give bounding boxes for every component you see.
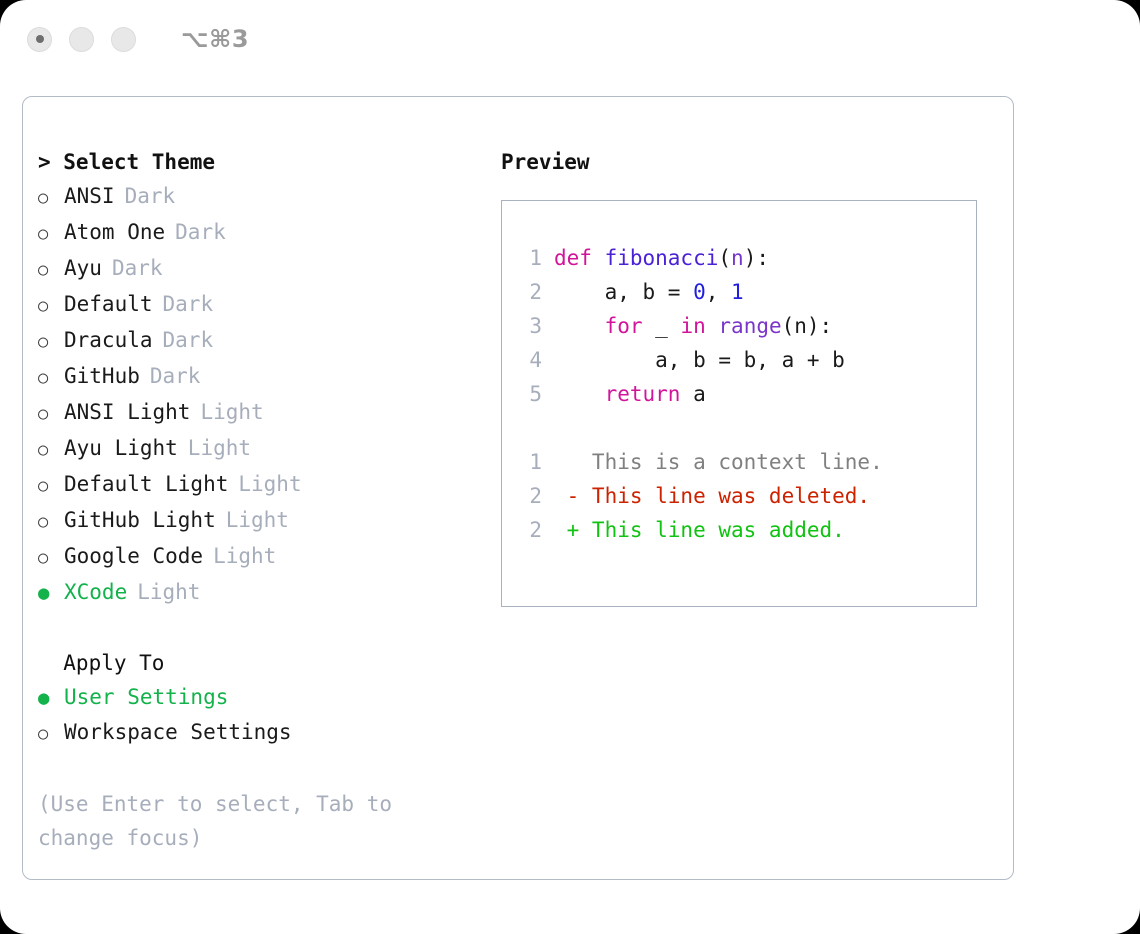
line-number: 5 (514, 377, 542, 411)
token-plain (554, 314, 605, 338)
window-controls (27, 27, 136, 52)
option-variant-label: Dark (125, 179, 176, 213)
token-kw: in (680, 314, 705, 338)
option-label: Google Code (64, 539, 203, 573)
token-add: + This line was added. (554, 518, 845, 542)
line-number: 4 (514, 343, 542, 377)
line-content: a, b = b, a + b (554, 343, 845, 377)
code-block: 1def fibonacci(n):2 a, b = 0, 13 for _ i… (514, 241, 976, 411)
radio-unselected-icon: ○ (38, 433, 64, 467)
token-plain (706, 314, 719, 338)
line-number: 1 (514, 241, 542, 275)
token-var: n (731, 246, 744, 270)
theme-option-0[interactable]: ○ANSIDark (38, 179, 488, 215)
option-label: GitHub (64, 359, 140, 393)
line-content: - This line was deleted. (554, 479, 870, 513)
token-plain (554, 382, 605, 406)
code-blank-line (514, 411, 976, 445)
theme-selection-column: > Select Theme ○ANSIDark○Atom OneDark○Ay… (38, 145, 488, 855)
line-number: 2 (514, 479, 542, 513)
apply-to-option-list: ●User Settings○Workspace Settings (38, 680, 488, 751)
option-label: ANSI Light (64, 395, 190, 429)
code-line: 5 return a (514, 377, 976, 411)
theme-option-8[interactable]: ○Default LightLight (38, 467, 488, 503)
diff-block: 1 This is a context line.2 - This line w… (514, 445, 976, 547)
token-plain: ): (744, 246, 769, 270)
theme-option-2[interactable]: ○AyuDark (38, 251, 488, 287)
theme-option-7[interactable]: ○Ayu LightLight (38, 431, 488, 467)
option-variant-label: Light (238, 467, 301, 501)
option-variant-label: Dark (150, 359, 201, 393)
keyboard-shortcut-label: ⌥⌘3 (181, 25, 249, 53)
preview-column: Preview 1def fibonacci(n):2 a, b = 0, 13… (501, 145, 1001, 607)
traffic-light-3[interactable] (111, 27, 136, 52)
code-preview-box: 1def fibonacci(n):2 a, b = 0, 13 for _ i… (501, 200, 977, 607)
radio-selected-icon: ● (38, 576, 64, 610)
line-content: + This line was added. (554, 513, 845, 547)
radio-unselected-icon: ○ (38, 361, 64, 395)
token-var: range (718, 314, 781, 338)
option-variant-label: Light (200, 395, 263, 429)
theme-option-list: ○ANSIDark○Atom OneDark○AyuDark○DefaultDa… (38, 179, 488, 610)
token-plain: _ (643, 314, 681, 338)
line-content: a, b = 0, 1 (554, 275, 744, 309)
token-fn: fibonacci (605, 246, 719, 270)
option-variant-label: Light (137, 575, 200, 609)
option-label: Default Light (64, 467, 228, 501)
theme-option-10[interactable]: ○Google CodeLight (38, 539, 488, 575)
apply-to-option-0[interactable]: ●User Settings (38, 680, 488, 715)
theme-option-4[interactable]: ○DraculaDark (38, 323, 488, 359)
option-label: GitHub Light (64, 503, 216, 537)
option-variant-label: Dark (112, 251, 163, 285)
radio-unselected-icon: ○ (38, 325, 64, 359)
token-kw: for (605, 314, 643, 338)
token-del: - This line was deleted. (554, 484, 870, 508)
token-num: 1 (731, 280, 744, 304)
option-label: Default (64, 287, 153, 321)
option-label: Atom One (64, 215, 165, 249)
preview-title: Preview (501, 145, 1001, 179)
theme-option-3[interactable]: ○DefaultDark (38, 287, 488, 323)
option-label: Dracula (64, 323, 153, 357)
code-line: 3 for _ in range(n): (514, 309, 976, 343)
traffic-light-2[interactable] (69, 27, 94, 52)
option-variant-label: Dark (175, 215, 226, 249)
theme-option-9[interactable]: ○GitHub LightLight (38, 503, 488, 539)
option-variant-label: Dark (163, 287, 214, 321)
line-content: def fibonacci(n): (554, 241, 769, 275)
radio-selected-icon: ● (38, 681, 64, 715)
radio-unselected-icon: ○ (38, 217, 64, 251)
radio-unselected-icon: ○ (38, 397, 64, 431)
traffic-light-1[interactable] (27, 27, 52, 52)
option-variant-label: Light (188, 431, 251, 465)
select-theme-header: > Select Theme (38, 145, 488, 179)
token-kw: return (605, 382, 681, 406)
line-number: 2 (514, 513, 542, 547)
theme-option-1[interactable]: ○Atom OneDark (38, 215, 488, 251)
line-content: for _ in range(n): (554, 309, 832, 343)
line-number: 2 (514, 275, 542, 309)
code-line: 1def fibonacci(n): (514, 241, 976, 275)
radio-unselected-icon: ○ (38, 541, 64, 575)
radio-unselected-icon: ○ (38, 289, 64, 323)
traffic-light-dot-icon (36, 35, 44, 43)
radio-unselected-icon: ○ (38, 253, 64, 287)
option-label: XCode (64, 575, 127, 609)
token-plain: ( (718, 246, 731, 270)
option-variant-label: Light (226, 503, 289, 537)
theme-option-5[interactable]: ○GitHubDark (38, 359, 488, 395)
line-content: return a (554, 377, 706, 411)
option-label: User Settings (64, 680, 228, 714)
token-plain: , (706, 280, 731, 304)
main-panel: > Select Theme ○ANSIDark○Atom OneDark○Ay… (22, 96, 1014, 880)
keyboard-hint-text: (Use Enter to select, Tab to change focu… (38, 787, 438, 855)
line-number: 1 (514, 445, 542, 479)
token-ctx: This is a context line. (554, 450, 883, 474)
token-plain: a, b = b, a + b (554, 348, 845, 372)
diff-line: 1 This is a context line. (514, 445, 976, 479)
diff-line: 2 + This line was added. (514, 513, 976, 547)
token-num: 0 (693, 280, 706, 304)
section-spacer (38, 610, 488, 646)
line-content: This is a context line. (554, 445, 883, 479)
radio-unselected-icon: ○ (38, 505, 64, 539)
apply-to-option-1[interactable]: ○Workspace Settings (38, 715, 488, 751)
option-label: Workspace Settings (64, 715, 292, 749)
option-label: Ayu Light (64, 431, 178, 465)
option-label: ANSI (64, 179, 115, 213)
line-number: 3 (514, 309, 542, 343)
radio-unselected-icon: ○ (38, 717, 64, 751)
app-window: ⌥⌘3 > Select Theme ○ANSIDark○Atom OneDar… (0, 0, 1140, 934)
diff-line: 2 - This line was deleted. (514, 479, 976, 513)
token-plain: (n): (782, 314, 833, 338)
theme-option-11[interactable]: ●XCodeLight (38, 575, 488, 610)
code-line: 2 a, b = 0, 1 (514, 275, 976, 309)
code-line: 4 a, b = b, a + b (514, 343, 976, 377)
radio-unselected-icon: ○ (38, 181, 64, 215)
option-variant-label: Dark (163, 323, 214, 357)
token-kw: def (554, 246, 605, 270)
panel-columns: > Select Theme ○ANSIDark○Atom OneDark○Ay… (23, 97, 1013, 879)
option-variant-label: Light (213, 539, 276, 573)
apply-to-header: Apply To (38, 646, 488, 680)
token-plain: a, b = (554, 280, 693, 304)
title-bar: ⌥⌘3 (0, 0, 1140, 78)
theme-option-6[interactable]: ○ANSI LightLight (38, 395, 488, 431)
radio-unselected-icon: ○ (38, 469, 64, 503)
option-label: Ayu (64, 251, 102, 285)
token-plain: a (680, 382, 705, 406)
